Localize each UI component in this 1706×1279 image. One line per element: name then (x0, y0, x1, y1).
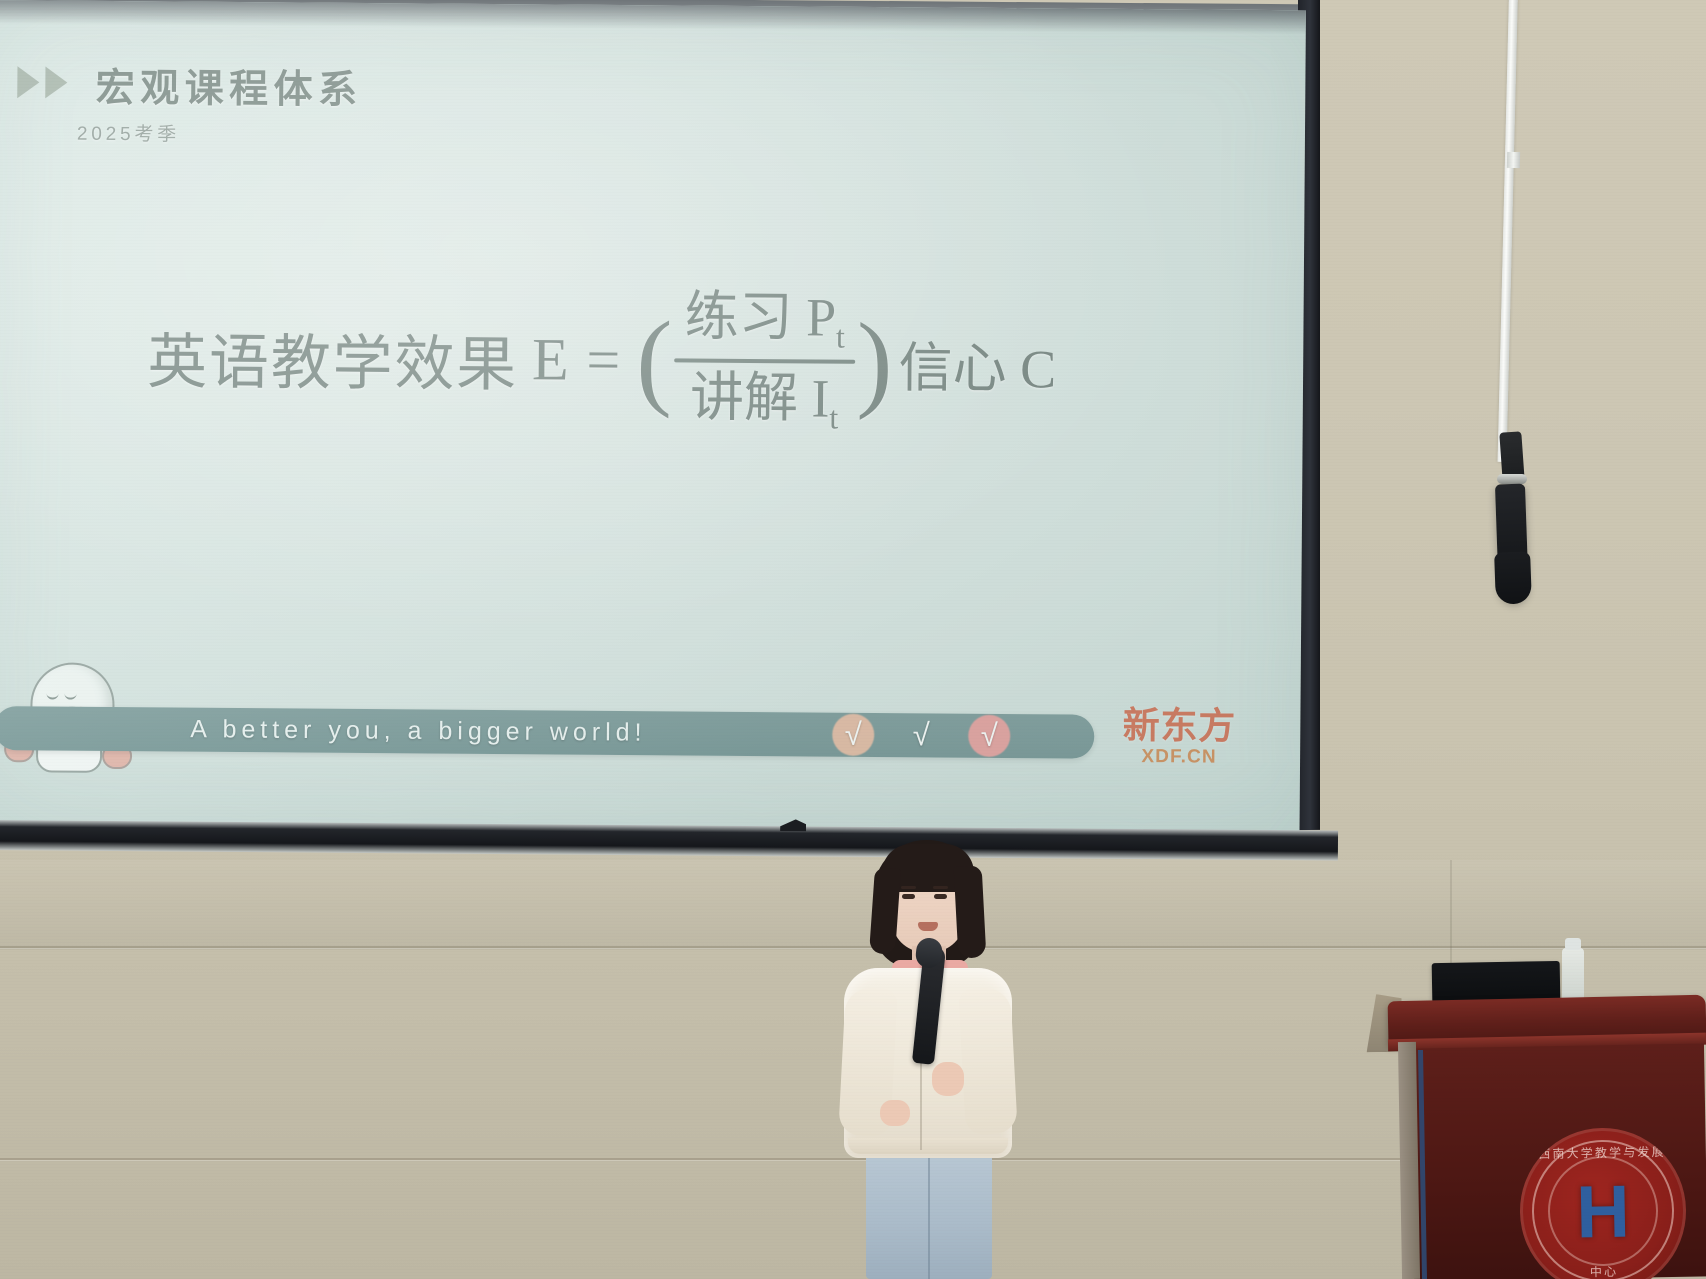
formula-denominator-text: 讲解 I (690, 368, 830, 429)
university-emblem: 西南大学教学与发展 H 中心 (1519, 1127, 1688, 1279)
presenter (822, 838, 1032, 1279)
xdf-logo-cn: 新东方 (1120, 707, 1238, 745)
slide-surface: 宏观课程体系 2025考季 英语教学效果 E = ( 练习 Pt 讲解 It )… (0, 0, 1306, 832)
presenter-mouth (918, 922, 938, 931)
check-icon: √ (900, 714, 942, 756)
presenter-eye (902, 894, 915, 899)
lectern: 西南大学教学与发展 H 中心 (1366, 1072, 1706, 1279)
check-badge: √ (968, 715, 1010, 757)
podium-monitor (1432, 961, 1561, 1003)
banner-slogan: A better you, a bigger world! (190, 715, 647, 748)
hanging-microphone (1483, 0, 1553, 612)
presenter-hair-side (954, 865, 987, 958)
slide-header: 宏观课程体系 2025考季 (17, 56, 363, 148)
presenter-eyebrow (901, 886, 916, 889)
slide-subtitle: 2025考季 (77, 119, 362, 148)
microphone-joint (1507, 152, 1520, 168)
check-badge: √ (832, 714, 874, 756)
slide-title: 宏观课程体系 (96, 57, 363, 115)
emblem-letter: H (1519, 1127, 1688, 1279)
formula-numerator-text: 练习 P (684, 286, 836, 347)
formula-lead: 英语教学效果 (147, 313, 518, 403)
formula-denominator: 讲解 It (680, 369, 849, 436)
presenter-hand (932, 1062, 964, 1096)
check-icon: √ (832, 714, 874, 756)
projection-screen: 宏观课程体系 2025考季 英语教学效果 E = ( 练习 Pt 讲解 It )… (0, 0, 1340, 874)
check-icon: √ (968, 715, 1010, 757)
formula-numerator: 练习 Pt (674, 287, 855, 354)
presenter-eye (934, 894, 947, 899)
formula-fraction-bar (674, 359, 854, 364)
presenter-eyebrow (933, 886, 948, 889)
lecture-hall-room: 宏观课程体系 2025考季 英语教学效果 E = ( 练习 Pt 讲解 It )… (0, 0, 1706, 1279)
formula-numerator-subscript: t (836, 318, 845, 354)
formula-fraction: 练习 Pt 讲解 It (674, 287, 856, 435)
formula-open-paren: ( (636, 314, 673, 407)
formula-close-paren: ) (856, 316, 893, 409)
presenter-arm (958, 987, 1018, 1136)
presenter-jacket-hem (848, 1138, 1008, 1154)
formula-tail: 信心 C (898, 323, 1056, 403)
presenter-jeans-seam (928, 1156, 930, 1279)
check-badge: √ (900, 714, 942, 756)
xdf-logo: 新东方 XDF.CN (1120, 707, 1238, 770)
formula-equals: = (586, 326, 620, 395)
microphone-ring (1497, 474, 1527, 484)
check-badges: √ √ √ (832, 714, 1010, 757)
microphone-body (1494, 551, 1532, 604)
water-bottle-cap (1565, 938, 1581, 950)
emblem-arc-bottom: 中心 (1521, 1262, 1687, 1279)
formula-variable: E (532, 325, 571, 394)
microphone-pole (1498, 0, 1518, 462)
slide-formula: 英语教学效果 E = ( 练习 Pt 讲解 It ) 信心 C (147, 283, 1057, 437)
xdf-logo-en: XDF.CN (1120, 746, 1238, 769)
presenter-hand (880, 1100, 910, 1126)
formula-denominator-subscript: t (829, 400, 838, 436)
slide-banner: A better you, a bigger world! √ √ √ (0, 706, 1094, 759)
double-triangle-icon (17, 66, 73, 103)
